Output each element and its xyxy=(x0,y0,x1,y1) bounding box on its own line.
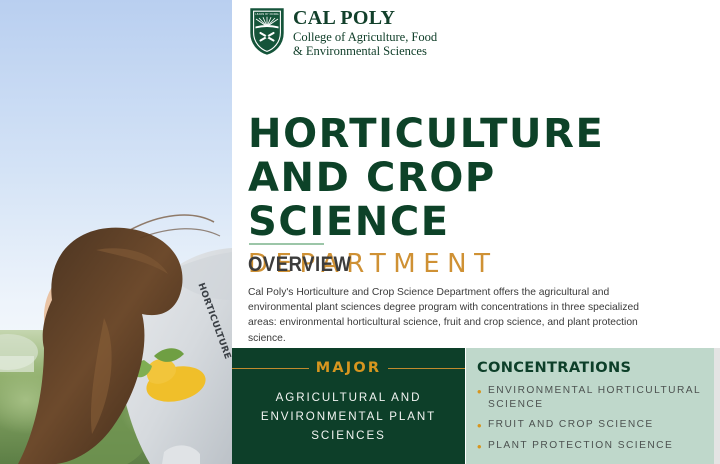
college-name: College of Agriculture, Food & Environme… xyxy=(293,30,437,58)
hero-photo: HORTICULTURE xyxy=(0,0,232,464)
concentration-label: ENVIRONMENTAL HORTICULTURAL SCIENCE xyxy=(488,384,708,411)
title-line-1: HORTICULTURE xyxy=(248,112,708,156)
list-item: • PLANT PROTECTION SCIENCE xyxy=(477,439,708,453)
svg-text:LEARN BY DOING: LEARN BY DOING xyxy=(255,12,279,16)
major-label: MAJOR xyxy=(316,360,382,376)
major-rule-right xyxy=(388,368,465,369)
major-rule-left xyxy=(232,368,309,369)
right-edge-strip xyxy=(714,348,720,464)
concentration-label: FRUIT AND CROP SCIENCE xyxy=(488,418,654,432)
major-panel: MAJOR AGRICULTURAL AND ENVIRONMENTAL PLA… xyxy=(232,348,465,464)
flyer-page: HORTICULTURE LEARN xyxy=(0,0,720,464)
concentrations-title: CONCENTRATIONS xyxy=(477,359,631,376)
title-line-2: AND CROP SCIENCE xyxy=(248,156,708,244)
major-program-name: AGRICULTURAL AND ENVIRONMENTAL PLANT SCI… xyxy=(242,388,455,445)
list-item: • FRUIT AND CROP SCIENCE xyxy=(477,418,708,432)
bullet-icon: • xyxy=(477,419,488,432)
list-item: • ENVIRONMENTAL HORTICULTURAL SCIENCE xyxy=(477,384,708,411)
bullet-icon: • xyxy=(477,440,488,453)
content-area: LEARN BY DOING xyxy=(232,0,720,464)
major-heading-row: MAJOR xyxy=(232,360,465,376)
cal-poly-wordmark: CAL POLY xyxy=(293,8,437,28)
cal-poly-logo: LEARN BY DOING xyxy=(250,6,437,58)
concentrations-panel: CONCENTRATIONS • ENVIRONMENTAL HORTICULT… xyxy=(466,348,714,464)
hero-photo-illustration: HORTICULTURE xyxy=(0,0,232,464)
concentration-label: PLANT PROTECTION SCIENCE xyxy=(488,439,673,453)
cal-poly-shield-icon: LEARN BY DOING xyxy=(250,7,284,55)
concentrations-list: • ENVIRONMENTAL HORTICULTURAL SCIENCE • … xyxy=(477,384,708,460)
bullet-icon: • xyxy=(477,385,488,398)
overview-heading: OVERVIEW xyxy=(248,253,351,277)
bottom-panels: MAJOR AGRICULTURAL AND ENVIRONMENTAL PLA… xyxy=(232,348,720,464)
overview-rule xyxy=(249,243,324,245)
overview-body: Cal Poly's Horticulture and Crop Science… xyxy=(248,285,663,346)
